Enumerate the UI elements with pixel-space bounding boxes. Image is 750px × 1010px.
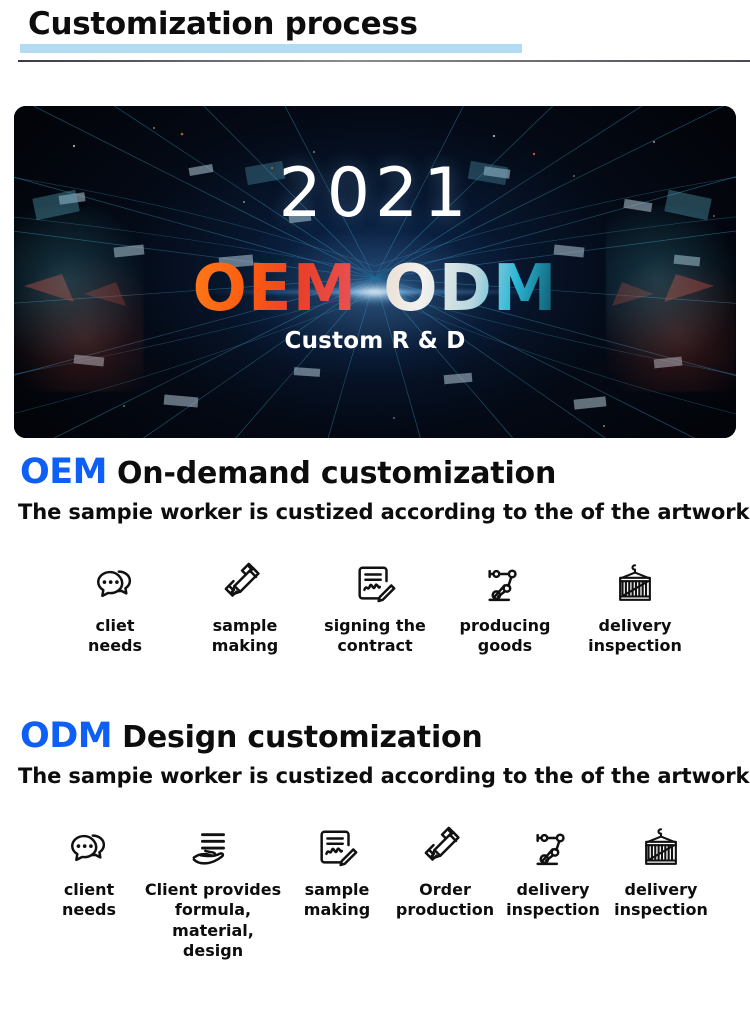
step-order-production[interactable]: Order production	[391, 826, 499, 921]
section-odm: ODMDesign customization The sampie worke…	[0, 716, 750, 1010]
section-odm-code: ODM	[20, 716, 112, 756]
pencil-ruler-icon	[422, 826, 468, 872]
step-label: delivery inspection	[614, 880, 708, 921]
hero-brand-line: OEMODM	[14, 252, 736, 326]
step-label: Order production	[396, 880, 494, 921]
step-label: cliet needs	[88, 616, 142, 657]
chat-bubbles-icon	[92, 562, 138, 608]
hero-banner: 2021 OEMODM Custom R & D	[14, 106, 736, 438]
step-signing-the-contract[interactable]: signing the contract	[310, 562, 440, 657]
step-sample-making[interactable]: sample making	[283, 826, 391, 921]
page-title: Customization process	[28, 6, 418, 42]
section-oem-code: OEM	[20, 452, 107, 492]
step-client-provides[interactable]: Client provides formula, material, desig…	[143, 826, 283, 962]
crate-hook-icon	[612, 562, 658, 608]
step-label: delivery inspection	[506, 880, 600, 921]
section-odm-heading: ODMDesign customization	[20, 716, 483, 756]
step-label: signing the contract	[324, 616, 426, 657]
hero-year: 2021	[14, 154, 736, 233]
robot-arm-icon	[482, 562, 528, 608]
hero-subtitle: Custom R & D	[14, 328, 736, 354]
step-label: delivery inspection	[588, 616, 682, 657]
section-oem-heading: OEMOn-demand customization	[20, 452, 556, 492]
hero-brand-oem: OEM	[192, 252, 357, 326]
section-oem: OEMOn-demand customization The sampie wo…	[0, 452, 750, 682]
step-label: sample making	[304, 880, 370, 921]
signed-document-icon	[314, 826, 360, 872]
header-divider-rule	[18, 60, 750, 62]
crate-hook-icon	[638, 826, 684, 872]
section-odm-description: The sampie worker is custized according …	[18, 764, 749, 788]
step-label: producing goods	[460, 616, 551, 657]
page-header: Customization process	[0, 0, 750, 72]
step-label: Client provides formula, material, desig…	[145, 880, 281, 962]
section-oem-steps: cliet needs sample making	[0, 562, 750, 657]
hero-brand-odm: ODM	[383, 252, 557, 326]
step-producing-goods[interactable]: producing goods	[440, 562, 570, 657]
section-odm-steps: client needs Client provides formula, ma…	[0, 826, 750, 962]
step-sample-making[interactable]: sample making	[180, 562, 310, 657]
chat-bubbles-icon	[66, 826, 112, 872]
step-delivery-inspection-crate[interactable]: delivery inspection	[607, 826, 715, 921]
title-underline-accent	[20, 44, 522, 53]
step-client-needs[interactable]: client needs	[35, 826, 143, 921]
step-delivery-inspection-robot[interactable]: delivery inspection	[499, 826, 607, 921]
section-odm-title: Design customization	[122, 720, 482, 755]
step-cliet-needs[interactable]: cliet needs	[50, 562, 180, 657]
step-delivery-inspection[interactable]: delivery inspection	[570, 562, 700, 657]
pencil-ruler-icon	[222, 562, 268, 608]
robot-arm-icon	[530, 826, 576, 872]
section-oem-title: On-demand customization	[117, 456, 556, 491]
section-oem-description: The sampie worker is custized according …	[18, 500, 749, 524]
step-label: sample making	[212, 616, 278, 657]
hand-documents-icon	[190, 826, 236, 872]
signed-document-icon	[352, 562, 398, 608]
step-label: client needs	[62, 880, 116, 921]
